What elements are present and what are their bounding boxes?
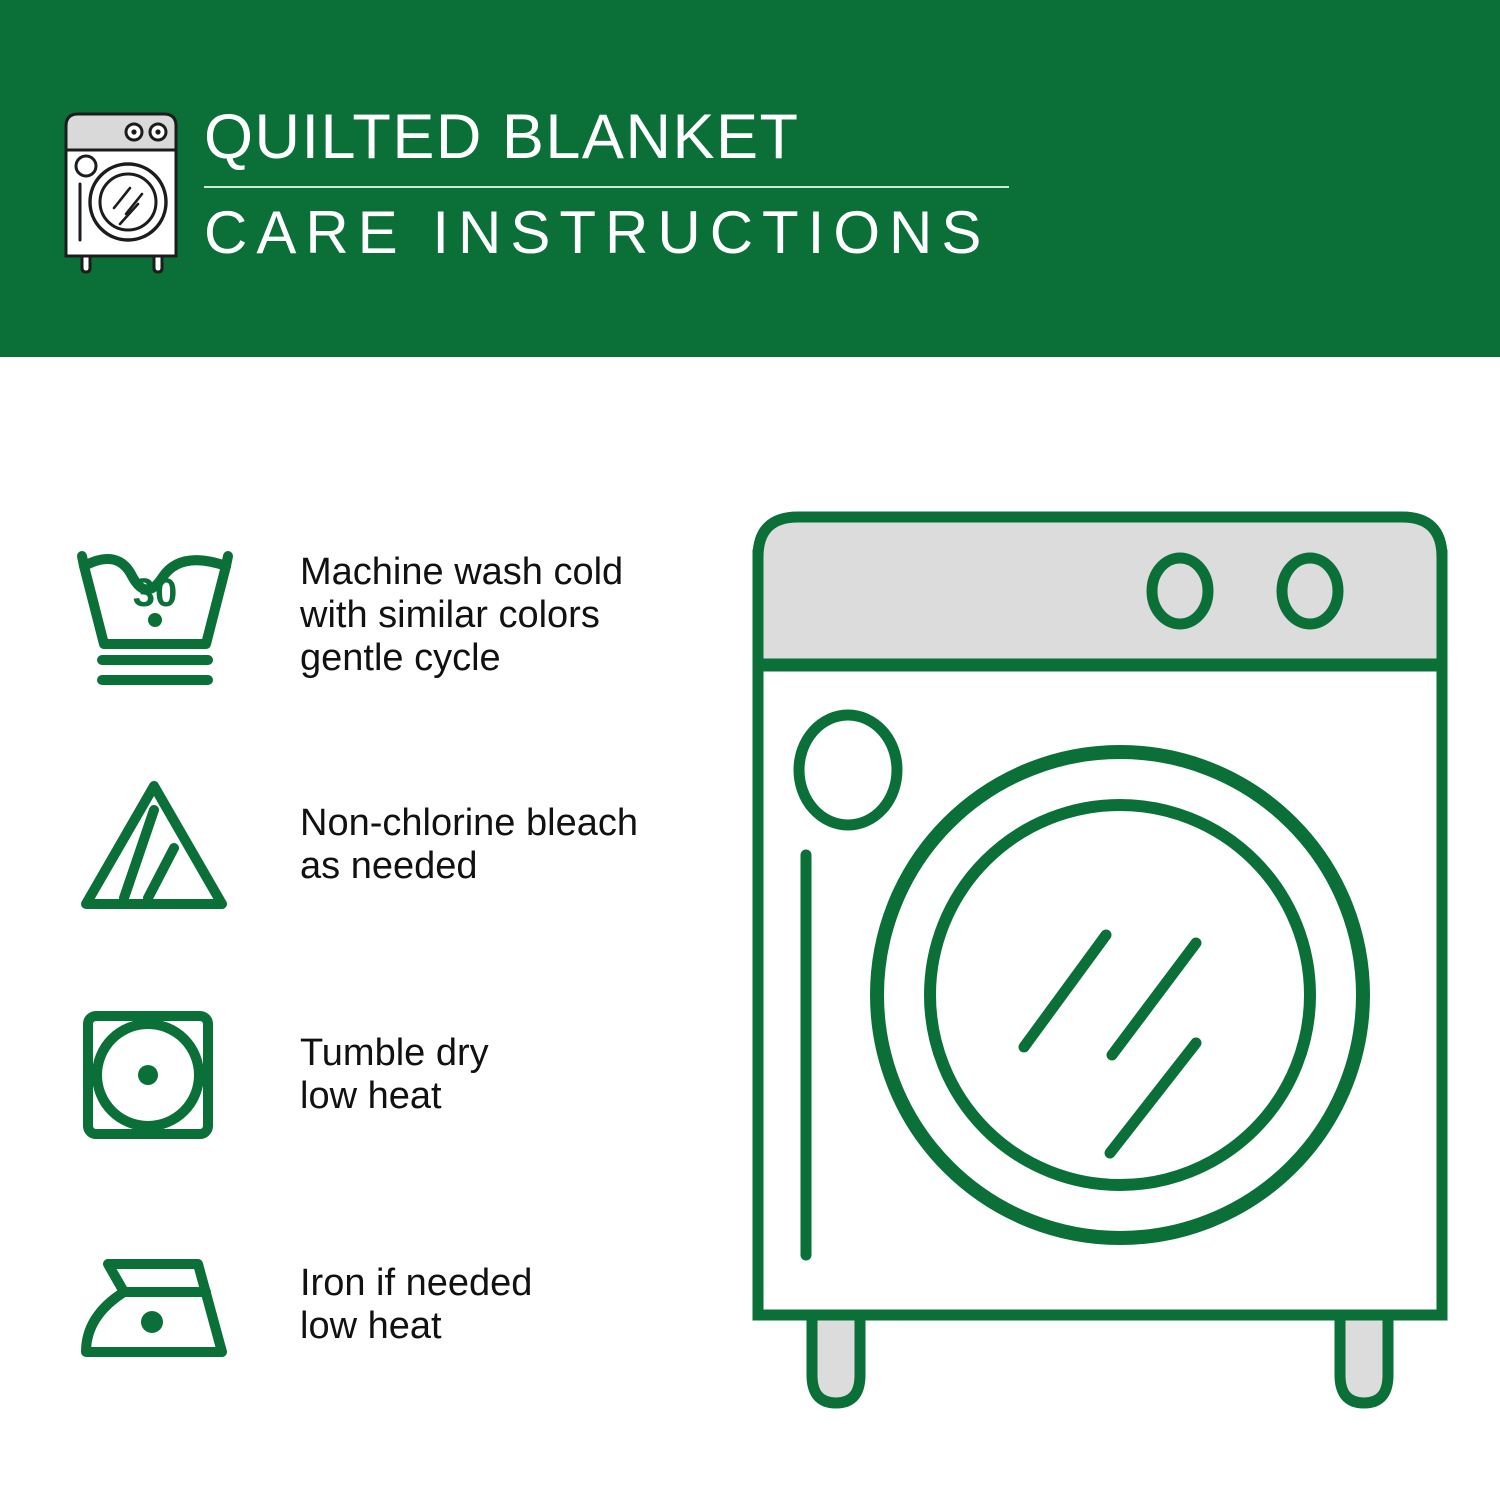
page-title: QUILTED BLANKET [204,102,1009,172]
care-row-text: Tumble dry low heat [250,1032,489,1118]
care-row-text: Machine wash cold with similar colors ge… [250,551,623,680]
care-row-text: Iron if needed low heat [250,1262,532,1348]
care-row: Iron if needed low heat [70,1190,710,1420]
washing-machine-icon [58,104,188,274]
wash-tub-30-gentle-icon: 30 [70,535,250,695]
front-load-washing-machine-illustration [740,495,1460,1445]
care-row: Tumble dry low heat [70,960,710,1190]
non-chlorine-bleach-triangle-icon [70,765,250,925]
page-header: QUILTED BLANKET CARE INSTRUCTIONS [0,0,1500,357]
title-divider [204,186,1009,188]
header-text-block: QUILTED BLANKET CARE INSTRUCTIONS [204,96,1009,266]
care-row: 30 Machine wash cold with similar colors… [70,500,710,730]
care-row: Non-chlorine bleach as needed [70,730,710,960]
page-subtitle: CARE INSTRUCTIONS [204,200,1009,266]
wash-temperature-label: 30 [133,571,178,615]
care-row-text: Non-chlorine bleach as needed [250,802,638,888]
header-content: QUILTED BLANKET CARE INSTRUCTIONS [58,96,1009,274]
care-instruction-list: 30 Machine wash cold with similar colors… [70,500,710,1420]
tumble-dry-low-icon [70,995,250,1155]
iron-low-heat-icon [70,1225,250,1385]
